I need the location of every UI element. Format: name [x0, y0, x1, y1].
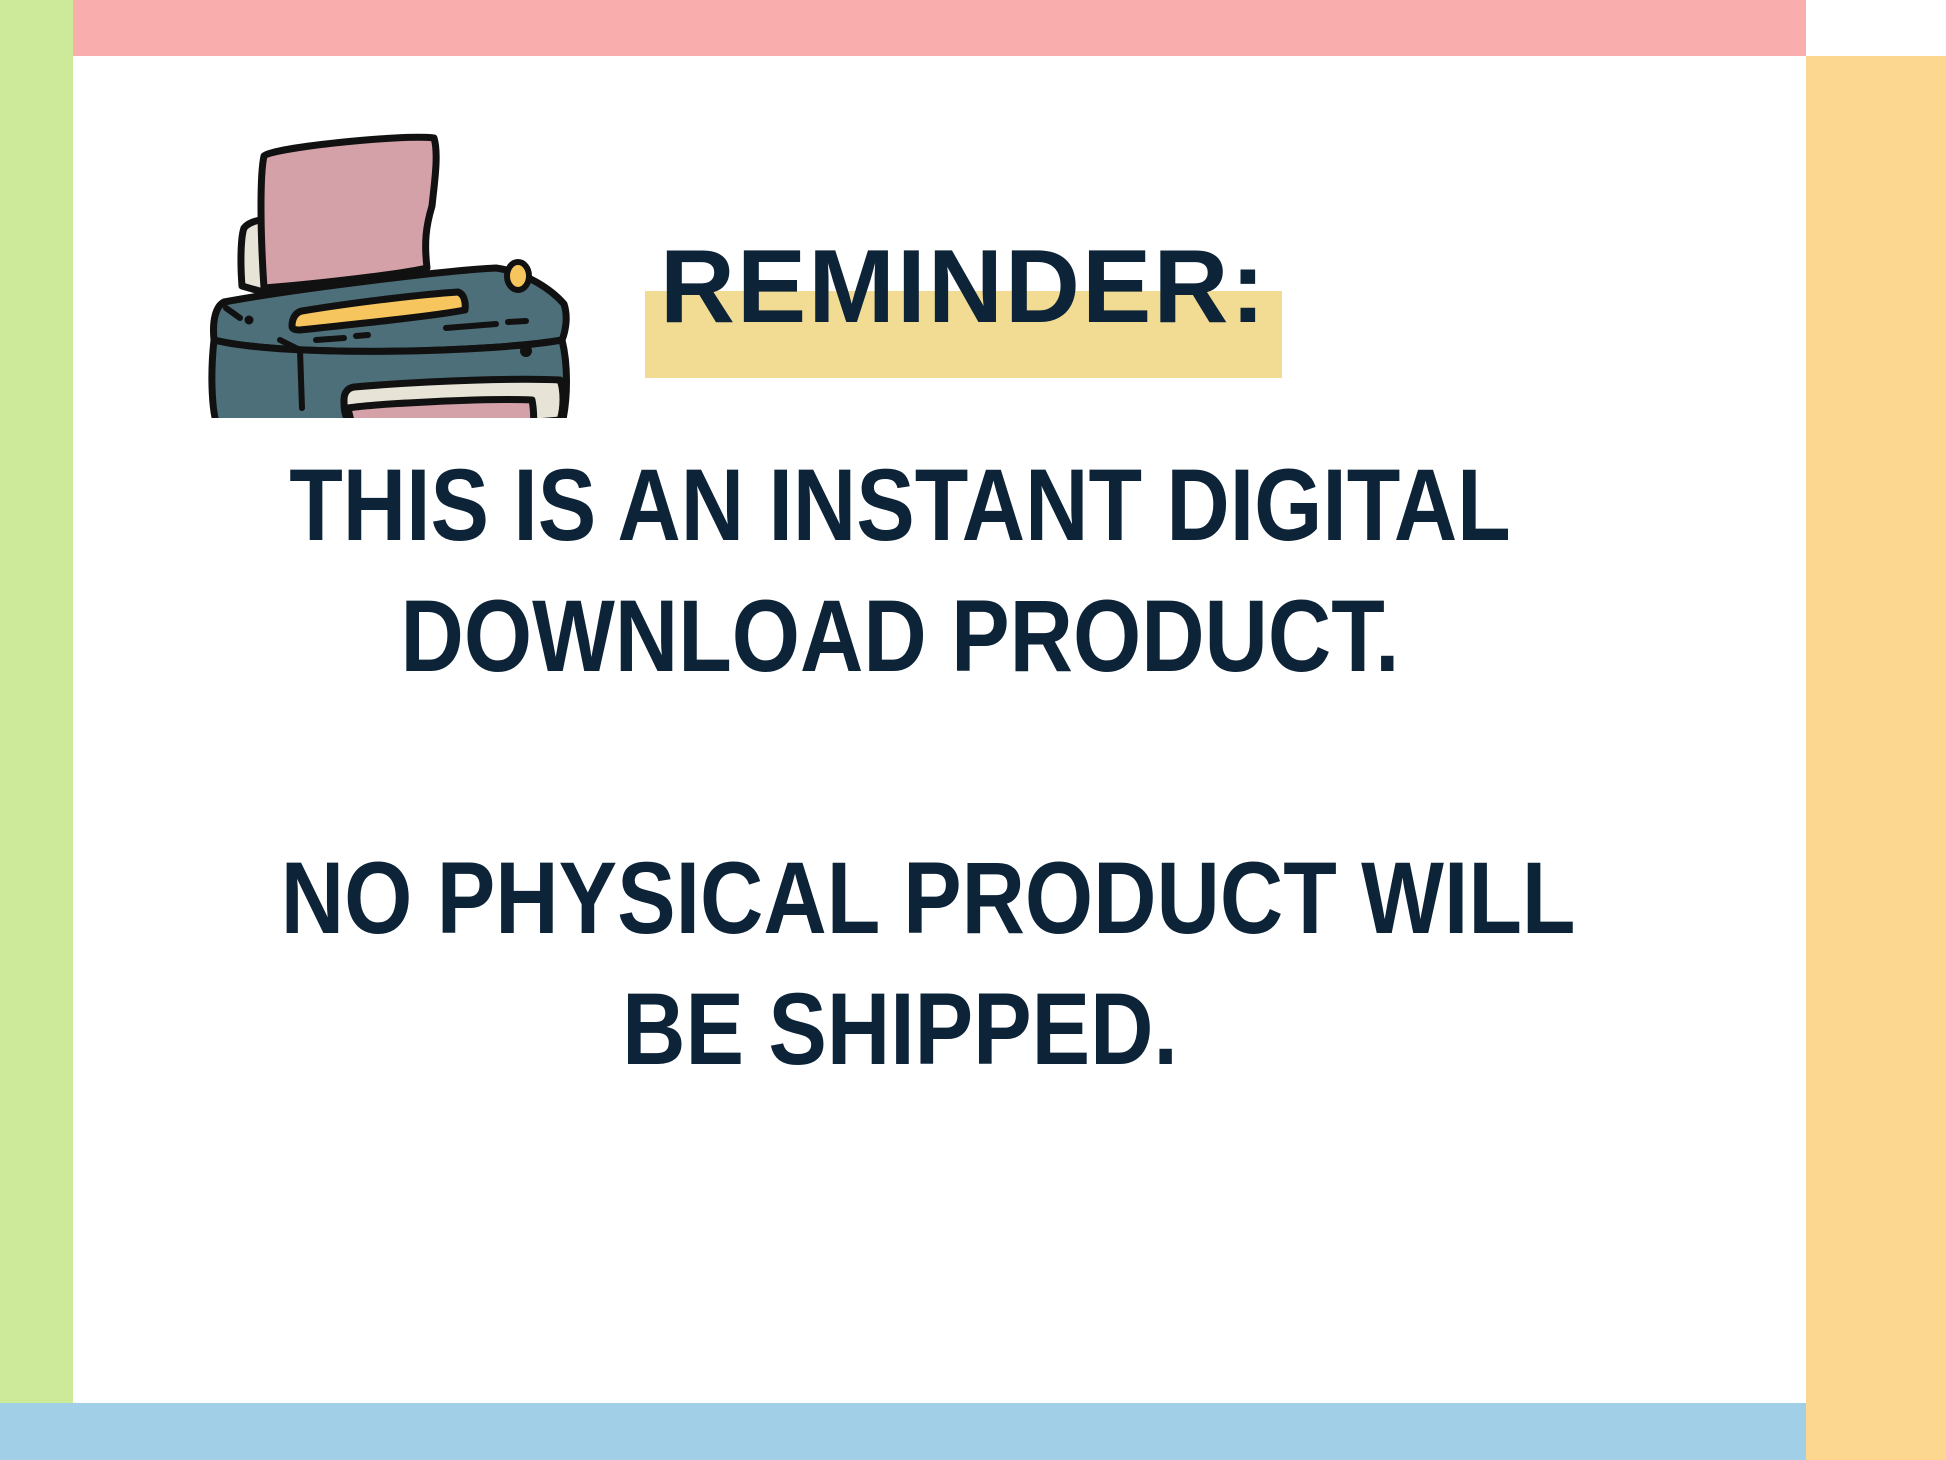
body-line-4: BE SHIPPED.: [281, 964, 1519, 1095]
bottom-accent-bar: [0, 1403, 1806, 1460]
printer-icon: [196, 108, 586, 418]
heading-label: REMINDER:: [645, 228, 1282, 346]
left-accent-bar: [0, 0, 73, 1403]
body-line-1: THIS IS AN INSTANT DIGITAL: [281, 440, 1519, 571]
poster-canvas: REMINDER: THIS IS AN INSTANT DIGITAL DOW…: [0, 0, 1946, 1460]
reminder-heading: REMINDER:: [645, 228, 1285, 380]
body-copy: THIS IS AN INSTANT DIGITAL DOWNLOAD PROD…: [180, 440, 1620, 1095]
body-paragraph-gap: [180, 702, 1620, 833]
body-line-2: DOWNLOAD PRODUCT.: [281, 571, 1519, 702]
right-accent-bar: [1806, 56, 1946, 1460]
body-line-3: NO PHYSICAL PRODUCT WILL: [281, 833, 1519, 964]
top-accent-bar: [73, 0, 1806, 56]
